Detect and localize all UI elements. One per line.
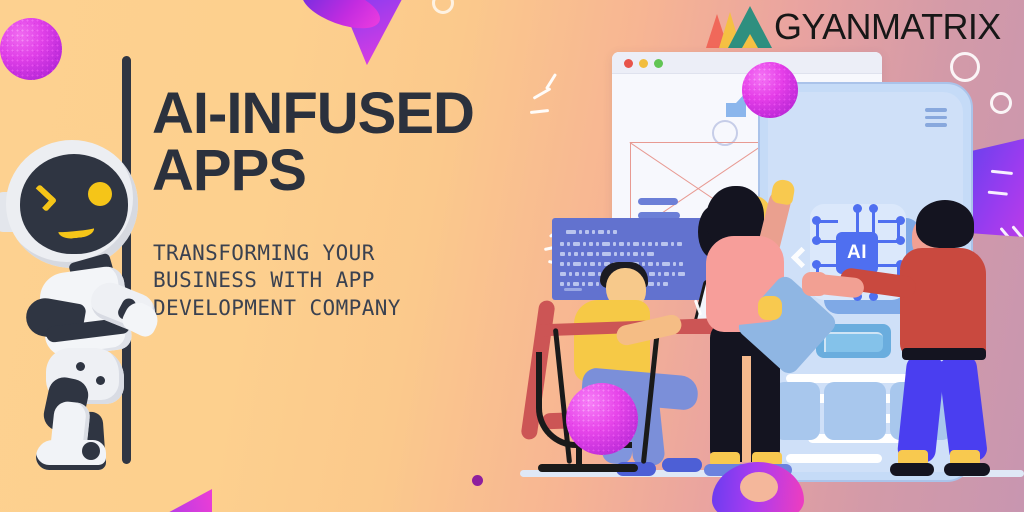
code-token (592, 230, 595, 234)
code-token (641, 252, 644, 256)
code-token (567, 282, 570, 286)
code-token (614, 252, 617, 256)
spark-line (545, 73, 557, 90)
code-token (567, 262, 570, 266)
spark-line (530, 109, 549, 114)
home-icon-body (726, 103, 746, 117)
code-token (664, 272, 669, 276)
code-token (661, 242, 668, 246)
robot-mascot (0, 140, 158, 470)
code-token (662, 262, 670, 266)
man-hair (916, 200, 974, 248)
man-shoe (890, 463, 934, 476)
code-token (560, 242, 564, 246)
code-token (589, 242, 593, 246)
code-token (588, 282, 593, 286)
chat-bubble-inner (824, 332, 883, 352)
code-token (613, 242, 616, 246)
code-token (627, 252, 630, 256)
code-token (677, 242, 682, 246)
chip-node (812, 236, 821, 245)
close-icon[interactable] (624, 59, 633, 68)
robot-eye-icon (88, 182, 112, 206)
decorative-triangle-bottom-left (62, 480, 212, 512)
robot-hip-dot (96, 376, 105, 385)
code-token (582, 282, 585, 286)
code-token (560, 262, 564, 266)
robot-hip-dot (76, 362, 85, 371)
app-card-thumbnail[interactable] (774, 382, 820, 440)
code-line (560, 252, 654, 256)
code-token (602, 242, 610, 246)
chevron-left-icon[interactable] (791, 247, 812, 268)
code-line (566, 230, 617, 234)
code-token (648, 262, 653, 266)
code-token (574, 252, 578, 256)
code-token (588, 272, 595, 276)
code-token (627, 242, 630, 246)
browser-title-bar (612, 52, 882, 74)
code-token (590, 262, 595, 266)
code-token (560, 272, 566, 276)
code-token (587, 252, 593, 256)
code-token (657, 282, 660, 286)
maximize-icon[interactable] (654, 59, 663, 68)
code-token (567, 242, 570, 246)
man-belt (902, 348, 986, 360)
code-token (575, 272, 579, 276)
spark-line (533, 87, 552, 100)
chip-node (812, 260, 821, 269)
decorative-sphere-upper (742, 62, 798, 118)
decorative-dot (472, 475, 483, 486)
code-token (579, 230, 582, 234)
code-token (672, 272, 675, 276)
code-token (596, 252, 599, 256)
chip-node (812, 216, 821, 225)
robot-heel (82, 442, 100, 460)
code-token (582, 272, 585, 276)
code-token (584, 262, 587, 266)
code-token (569, 272, 572, 276)
wireframe-text-line (638, 198, 678, 205)
code-line (560, 242, 682, 246)
chip-node (896, 236, 905, 245)
decorative-ring (432, 0, 454, 14)
chip-trace (856, 210, 859, 234)
code-token (648, 242, 652, 246)
code-token (619, 242, 624, 246)
code-token (583, 242, 586, 246)
decorative-sphere-top-left (0, 18, 62, 80)
code-token (633, 242, 639, 246)
man-shoe (944, 463, 990, 476)
code-token (560, 282, 564, 286)
chip-node (896, 216, 905, 225)
code-token (642, 242, 645, 246)
code-token (568, 252, 571, 256)
chair-base (538, 464, 638, 472)
hamburger-menu-icon[interactable] (925, 108, 947, 131)
chip-node (869, 204, 878, 213)
code-token (585, 230, 589, 234)
code-token (573, 282, 579, 286)
decorative-torus (712, 462, 804, 512)
ai-chip-icon: AI (836, 232, 878, 274)
code-cursor (564, 288, 582, 291)
seated-developer-shoe (662, 458, 702, 472)
code-token (598, 230, 604, 234)
code-token (573, 262, 581, 266)
code-token (663, 282, 668, 286)
code-token (671, 242, 674, 246)
code-token (566, 230, 576, 234)
code-token (647, 252, 654, 256)
code-token (656, 262, 659, 266)
code-token (679, 262, 683, 266)
app-card-thumbnail[interactable] (824, 382, 886, 440)
code-token (596, 282, 599, 286)
code-token (658, 272, 661, 276)
code-token (573, 242, 580, 246)
decorative-sphere-middle (566, 383, 638, 455)
code-token (678, 272, 685, 276)
code-token (633, 252, 638, 256)
code-token (648, 282, 654, 286)
promo-banner: GYANMATRIX AI-INFUSED APPS TRANSFORMING … (0, 0, 1024, 512)
code-token (673, 262, 676, 266)
code-token (620, 252, 624, 256)
code-token (649, 272, 655, 276)
code-token (602, 252, 611, 256)
code-token (598, 262, 601, 266)
headline-line-2: APPS (152, 143, 474, 200)
page-title: AI-INFUSED APPS (152, 86, 474, 200)
code-token (613, 230, 617, 234)
code-token (581, 252, 584, 256)
page-subtitle: TRANSFORMING YOUR BUSINESS WITH APP DEVE… (153, 240, 483, 322)
man-hand (802, 272, 828, 296)
code-token (642, 262, 645, 266)
woman-leg-gap (742, 356, 751, 462)
code-token (607, 230, 610, 234)
code-token (596, 242, 599, 246)
robot-face (20, 154, 128, 254)
code-token (560, 252, 565, 256)
woman-hand (758, 296, 782, 320)
chip-trace (872, 210, 875, 234)
man-torso (900, 248, 986, 358)
headline-line-1: AI-INFUSED (152, 86, 474, 143)
chip-node (853, 204, 862, 213)
minimize-icon[interactable] (639, 59, 648, 68)
code-token (655, 242, 658, 246)
